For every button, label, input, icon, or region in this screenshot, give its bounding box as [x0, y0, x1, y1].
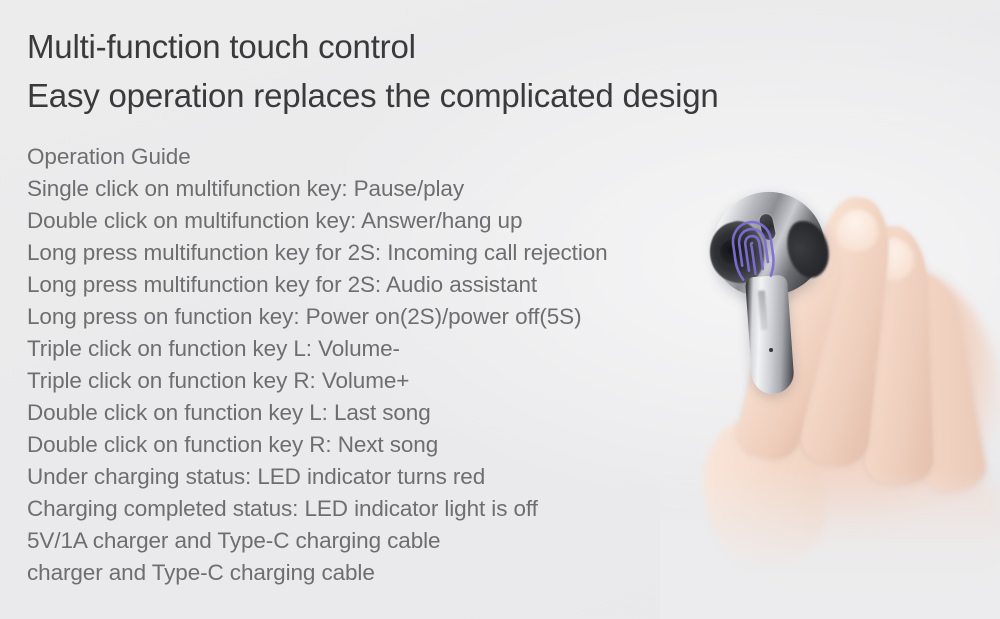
guide-item-volume-up: Triple click on function key R: Volume+: [27, 365, 717, 397]
guide-item-title: Operation Guide: [27, 141, 717, 173]
guide-item-charging-led: Under charging status: LED indicator tur…: [27, 461, 717, 493]
earbud-stem: [745, 275, 795, 396]
guide-item-last-song: Double click on function key L: Last son…: [27, 397, 717, 429]
guide-item-charged-led: Charging completed status: LED indicator…: [27, 493, 717, 525]
guide-item-double-click: Double click on multifunction key: Answe…: [27, 205, 717, 237]
headline-line-1: Multi-function touch control: [27, 22, 717, 71]
guide-item-volume-down: Triple click on function key L: Volume-: [27, 333, 717, 365]
guide-item-power: Long press on function key: Power on(2S)…: [27, 301, 717, 333]
guide-item-charger-spec: 5V/1A charger and Type-C charging cable: [27, 525, 717, 557]
text-column: Multi-function touch control Easy operat…: [27, 0, 717, 605]
operation-guide-list: Operation Guide Single click on multifun…: [27, 141, 717, 589]
guide-item-long-press-assistant: Long press multifunction key for 2S: Aud…: [27, 269, 717, 301]
headline-line-2: Easy operation replaces the complicated …: [27, 71, 717, 120]
fingerprint-icon: [717, 208, 789, 290]
guide-item-next-song: Double click on function key R: Next son…: [27, 429, 717, 461]
guide-item-single-click: Single click on multifunction key: Pause…: [27, 173, 717, 205]
product-feature-slide: Multi-function touch control Easy operat…: [0, 0, 1000, 619]
guide-item-charger-cable: charger and Type-C charging cable: [27, 557, 717, 589]
earbud-microphone-hole: [769, 348, 773, 352]
earbud-brand-mark: [758, 290, 768, 330]
guide-item-long-press-reject: Long press multifunction key for 2S: Inc…: [27, 237, 717, 269]
